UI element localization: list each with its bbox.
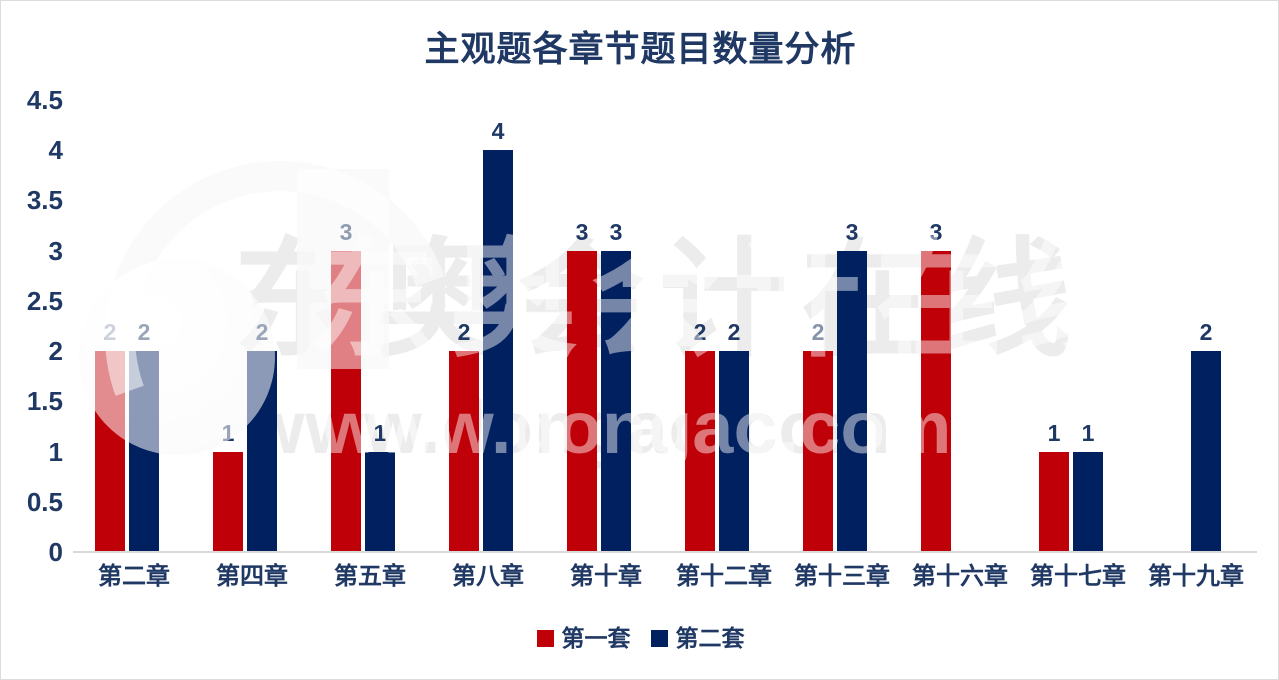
x-axis-label: 第八章	[429, 563, 547, 592]
y-axis-tick: 2	[1, 338, 63, 364]
bar-fill	[803, 351, 833, 552]
bar-value-label: 2	[104, 321, 117, 344]
bar-value-label: 2	[138, 321, 151, 344]
y-axis-tick: 0	[1, 539, 63, 565]
bar-value-label: 3	[930, 221, 943, 244]
x-axis-label: 第十二章	[665, 563, 783, 592]
bar[interactable]: 1	[213, 452, 243, 552]
bar-fill	[1191, 351, 1221, 552]
bar[interactable]: 2	[129, 351, 159, 552]
y-axis: 4.543.532.521.510.50	[1, 100, 63, 552]
bar[interactable]: 2	[719, 351, 749, 552]
bar-value-label: 4	[492, 120, 505, 143]
bar-fill	[567, 251, 597, 552]
bar-fill	[601, 251, 631, 552]
bar-value-label: 1	[1082, 422, 1095, 445]
bar-fill	[449, 351, 479, 552]
y-axis-tick: 4.5	[1, 87, 63, 113]
bar[interactable]: 4	[483, 150, 513, 552]
y-axis-tick: 1	[1, 439, 63, 465]
bar-fill	[95, 351, 125, 552]
bar[interactable]: 3	[837, 251, 867, 552]
bar-group: 3	[901, 100, 1019, 552]
bar[interactable]: 1	[365, 452, 395, 552]
bar-fill	[365, 452, 395, 552]
bar-value-label: 3	[846, 221, 859, 244]
bar[interactable]: 1	[1039, 452, 1069, 552]
bar-value-label: 1	[222, 422, 235, 445]
bar-value-label: 2	[1200, 321, 1213, 344]
bar[interactable]: 2	[247, 351, 277, 552]
bar[interactable]: 1	[1073, 452, 1103, 552]
bar[interactable]: 2	[95, 351, 125, 552]
y-axis-tick: 0.5	[1, 489, 63, 515]
bar[interactable]: 2	[1191, 351, 1221, 552]
bar-value-label: 3	[610, 221, 623, 244]
legend-item[interactable]: 第一套	[537, 627, 631, 650]
bar-value-label: 2	[812, 321, 825, 344]
bar-fill	[331, 251, 361, 552]
y-axis-tick: 3.5	[1, 187, 63, 213]
bar-fill	[213, 452, 243, 552]
bar-group: 33	[547, 100, 665, 552]
bar-value-label: 1	[374, 422, 387, 445]
bar[interactable]: 2	[803, 351, 833, 552]
bar-group: 11	[1019, 100, 1137, 552]
bar[interactable]: 2	[449, 351, 479, 552]
bar-fill	[1073, 452, 1103, 552]
bar-group: 23	[783, 100, 901, 552]
chart-title: 主观题各章节题目数量分析	[1, 29, 1279, 71]
x-axis-label: 第五章	[311, 563, 429, 592]
bar-value-label: 3	[576, 221, 589, 244]
bar-fill	[247, 351, 277, 552]
chart-container: 东奥会计在线 www.dongao.com 主观题各章节题目数量分析 4.543…	[0, 0, 1279, 680]
legend-label: 第一套	[562, 627, 631, 650]
x-axis-labels: 第二章第四章第五章第八章第十章第十二章第十三章第十六章第十七章第十九章	[75, 563, 1255, 603]
bar[interactable]: 2	[685, 351, 715, 552]
bar-group: 31	[311, 100, 429, 552]
x-axis-label: 第十六章	[901, 563, 1019, 592]
x-axis-label: 第二章	[75, 563, 193, 592]
legend-label: 第二套	[676, 627, 745, 650]
bar-fill	[685, 351, 715, 552]
bar[interactable]: 3	[601, 251, 631, 552]
bar-group: 22	[665, 100, 783, 552]
bar-fill	[129, 351, 159, 552]
x-axis-label: 第十九章	[1137, 563, 1255, 592]
x-axis-label: 第十七章	[1019, 563, 1137, 592]
bar-value-label: 2	[694, 321, 707, 344]
bar-group: 12	[193, 100, 311, 552]
bar-group: 24	[429, 100, 547, 552]
y-axis-tick: 2.5	[1, 288, 63, 314]
bar-value-label: 2	[256, 321, 269, 344]
bar[interactable]: 3	[567, 251, 597, 552]
bar-fill	[921, 251, 951, 552]
bar-group: 22	[75, 100, 193, 552]
x-axis-label: 第十三章	[783, 563, 901, 592]
bar-value-label: 2	[458, 321, 471, 344]
x-axis-line	[73, 551, 1257, 553]
y-axis-tick: 1.5	[1, 388, 63, 414]
bar-group: 2	[1137, 100, 1255, 552]
x-axis-label: 第十章	[547, 563, 665, 592]
legend-item[interactable]: 第二套	[651, 627, 745, 650]
y-axis-tick: 4	[1, 137, 63, 163]
bar-fill	[837, 251, 867, 552]
bar-fill	[483, 150, 513, 552]
x-axis-label: 第四章	[193, 563, 311, 592]
legend-swatch	[537, 630, 554, 647]
legend-swatch	[651, 630, 668, 647]
bar[interactable]: 3	[921, 251, 951, 552]
plot-area: 221231243322233112东奥会计在线www.dongao.com	[75, 100, 1255, 552]
bar-value-label: 2	[728, 321, 741, 344]
bar-value-label: 1	[1048, 422, 1061, 445]
chart-legend: 第一套第二套	[1, 627, 1279, 650]
y-axis-tick: 3	[1, 238, 63, 264]
bar-fill	[1039, 452, 1069, 552]
bar-value-label: 3	[340, 221, 353, 244]
bar-fill	[719, 351, 749, 552]
bar[interactable]: 3	[331, 251, 361, 552]
